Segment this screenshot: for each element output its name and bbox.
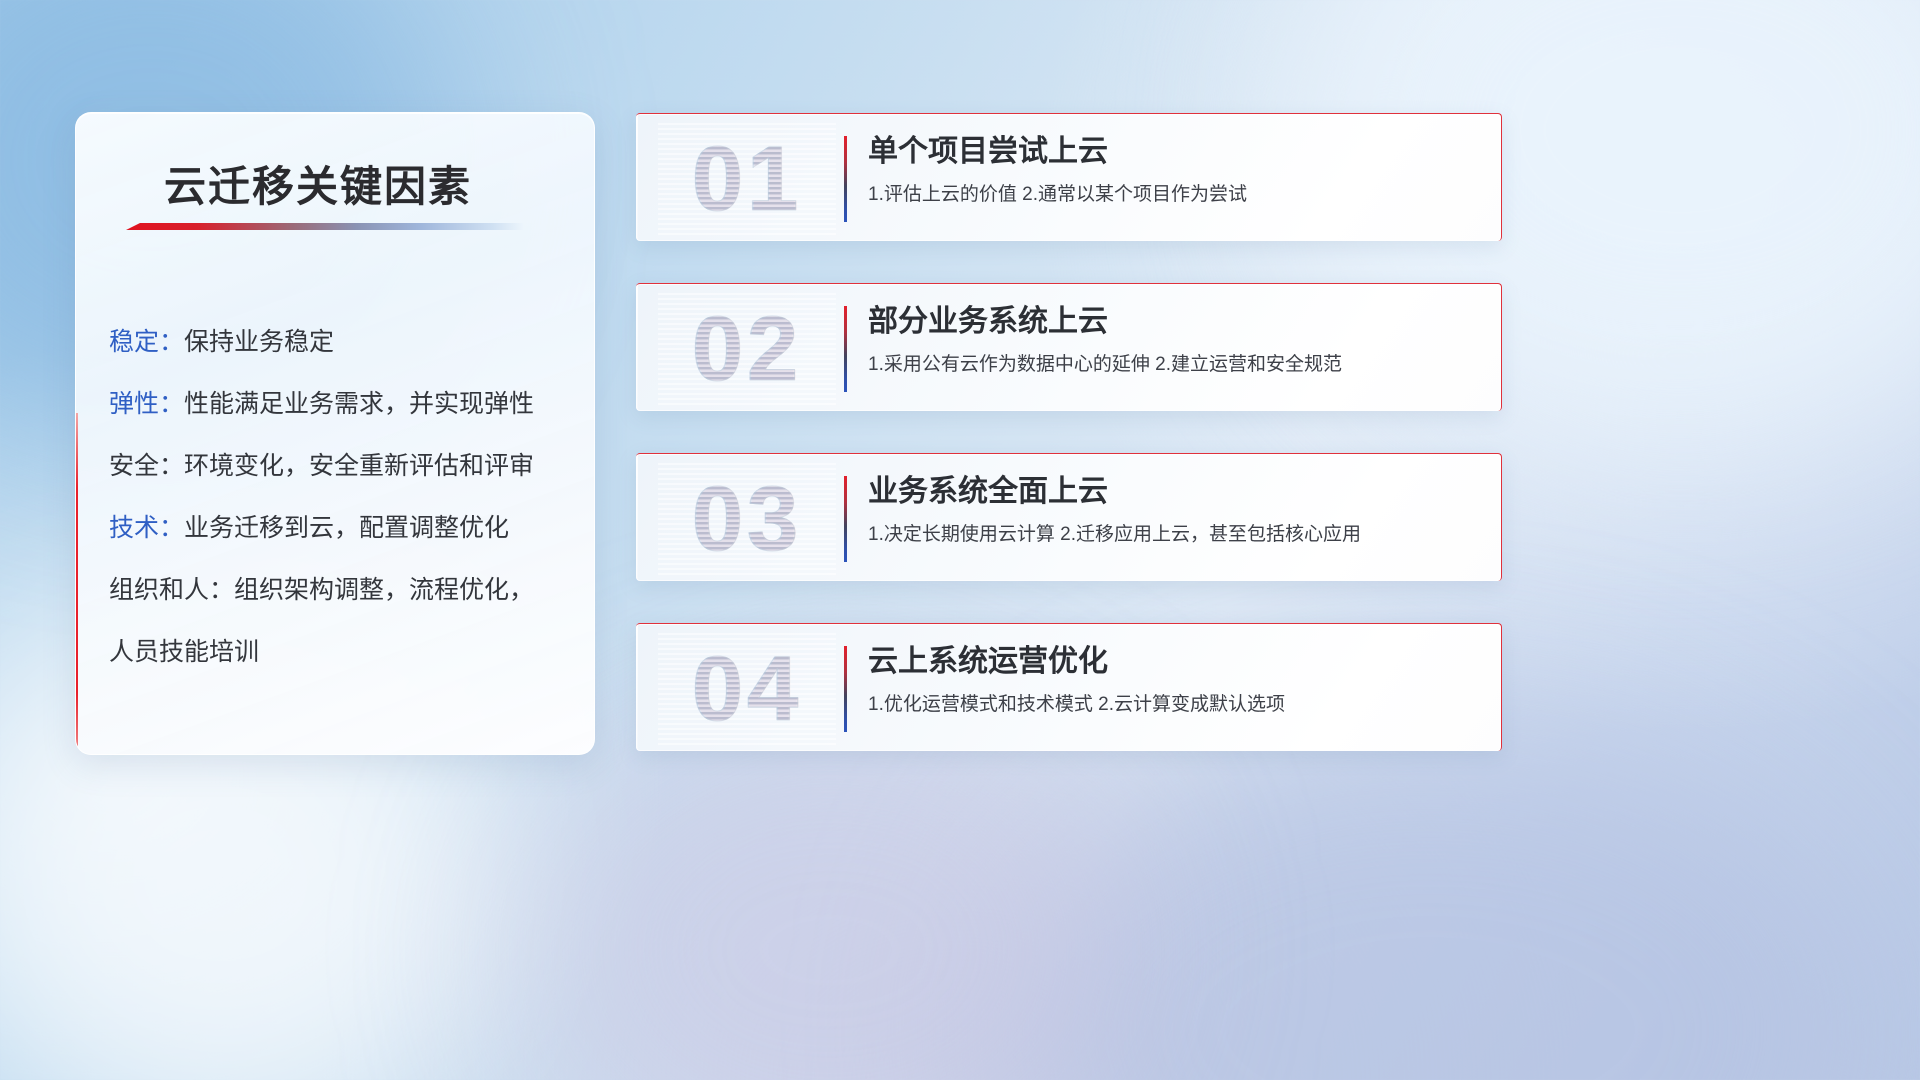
stage-accent-bar: [844, 136, 847, 222]
list-item-key: 技术：: [109, 514, 184, 542]
list-item-text: 业务迁移到云，配置调整优化: [184, 514, 509, 542]
stage-number-text: 04: [692, 637, 802, 742]
key-factors-panel: 云迁移关键因素 稳定：保持业务稳定 弹性：性能满足业务需求，并实现弹性 安全：环…: [75, 112, 595, 755]
stage-card-description: 1.采用公有云作为数据中心的延伸 2.建立运营和安全规范: [868, 346, 1481, 384]
stage-card-title: 业务系统全面上云: [868, 468, 1481, 516]
list-item-key: 组织和人：: [109, 576, 234, 604]
list-item-key: 安全：: [109, 452, 184, 480]
stage-card-body: 部分业务系统上云 1.采用公有云作为数据中心的延伸 2.建立运营和安全规范: [868, 298, 1481, 384]
stage-card-04[interactable]: 04 云上系统运营优化 1.优化运营模式和技术模式 2.云计算变成默认选项: [636, 623, 1502, 751]
slide-canvas: 云迁移关键因素 稳定：保持业务稳定 弹性：性能满足业务需求，并实现弹性 安全：环…: [0, 0, 1920, 1080]
stage-card-title: 云上系统运营优化: [868, 638, 1481, 686]
list-item-text: 组织架构调整，流程优化，: [234, 576, 534, 604]
stage-accent-bar: [844, 476, 847, 562]
list-item-key: 稳定：: [109, 328, 184, 356]
stage-number-badge: 04: [658, 630, 836, 748]
stage-number-badge: 02: [658, 290, 836, 408]
stage-number-text: 03: [692, 467, 802, 572]
stage-card-03[interactable]: 03 业务系统全面上云 1.决定长期使用云计算 2.迁移应用上云，甚至包括核心应…: [636, 453, 1502, 581]
list-item: 弹性：性能满足业务需求，并实现弹性: [109, 373, 570, 435]
list-item: 安全：环境变化，安全重新评估和评审: [109, 435, 570, 497]
page-title: 云迁移关键因素: [164, 153, 472, 214]
stage-card-02[interactable]: 02 部分业务系统上云 1.采用公有云作为数据中心的延伸 2.建立运营和安全规范: [636, 283, 1502, 411]
list-item-text: 性能满足业务需求，并实现弹性: [184, 390, 534, 418]
stage-card-description: 1.优化运营模式和技术模式 2.云计算变成默认选项: [868, 686, 1481, 724]
stage-number-badge: 01: [658, 120, 836, 238]
stage-accent-bar: [844, 306, 847, 392]
migration-stage-cards: 01 单个项目尝试上云 1.评估上云的价值 2.通常以某个项目作为尝试 02 部…: [636, 113, 1502, 793]
stage-card-description: 1.评估上云的价值 2.通常以某个项目作为尝试: [868, 176, 1481, 214]
list-item-key: 弹性：: [109, 390, 184, 418]
stage-number-text: 02: [692, 297, 802, 402]
stage-card-title: 部分业务系统上云: [868, 298, 1481, 346]
stage-card-body: 业务系统全面上云 1.决定长期使用云计算 2.迁移应用上云，甚至包括核心应用: [868, 468, 1481, 554]
list-item: 稳定：保持业务稳定: [109, 311, 570, 373]
list-item-text: 人员技能培训: [109, 638, 259, 666]
stage-card-title: 单个项目尝试上云: [868, 128, 1481, 176]
stage-card-body: 单个项目尝试上云 1.评估上云的价值 2.通常以某个项目作为尝试: [868, 128, 1481, 214]
title-underline-rule: [126, 223, 524, 230]
stage-accent-bar: [844, 646, 847, 732]
list-item: 技术：业务迁移到云，配置调整优化: [109, 497, 570, 559]
stage-number-badge: 03: [658, 460, 836, 578]
stage-card-description: 1.决定长期使用云计算 2.迁移应用上云，甚至包括核心应用: [868, 516, 1481, 554]
list-item-text: 环境变化，安全重新评估和评审: [184, 452, 534, 480]
panel-left-accent-bar: [76, 413, 78, 754]
list-item: 人员技能培训: [109, 621, 570, 683]
stage-card-01[interactable]: 01 单个项目尝试上云 1.评估上云的价值 2.通常以某个项目作为尝试: [636, 113, 1502, 241]
stage-number-text: 01: [692, 127, 802, 232]
key-factors-list: 稳定：保持业务稳定 弹性：性能满足业务需求，并实现弹性 安全：环境变化，安全重新…: [109, 311, 570, 683]
list-item: 组织和人：组织架构调整，流程优化，: [109, 559, 570, 621]
list-item-text: 保持业务稳定: [184, 328, 334, 356]
stage-card-body: 云上系统运营优化 1.优化运营模式和技术模式 2.云计算变成默认选项: [868, 638, 1481, 724]
